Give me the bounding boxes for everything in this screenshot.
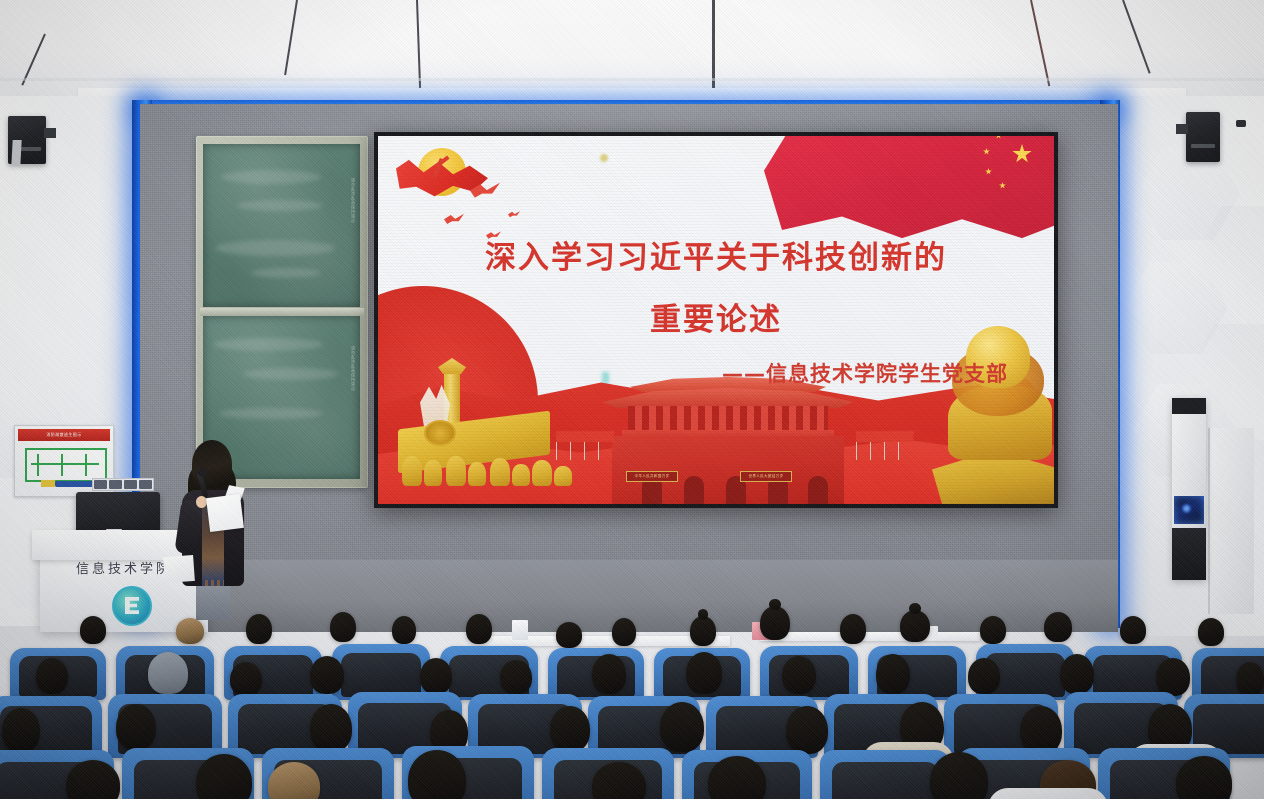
wall-speaker-right: [1186, 112, 1220, 162]
stone-lion-graphic: [930, 324, 1054, 504]
blackboard-note-top: 请勿乱涂乱画保持清洁: [350, 178, 356, 223]
gate-plaque-left: 中华人民共和国万岁: [626, 471, 678, 482]
ceiling-camera: [1236, 120, 1246, 127]
blackboard: 请勿乱涂乱画保持清洁 请勿乱涂乱画保持清洁: [196, 136, 368, 488]
tiananmen-gate-graphic: 中华人民共和国万岁 世界人民大团结万岁: [578, 376, 878, 504]
screen-speck: [600, 154, 608, 162]
desk-item: [512, 620, 528, 640]
slide-content: 中华人民共和国万岁 世界人民大团结万岁: [378, 136, 1054, 504]
ceiling: [0, 0, 1264, 96]
gate-plaque-right: 世界人民大团结万岁: [740, 471, 792, 482]
party-emblem-graphic: [396, 144, 488, 216]
lecture-hall-photo: 请勿乱涂乱画保持清洁 请勿乱涂乱画保持清洁: [0, 0, 1264, 799]
script-paper: [163, 555, 195, 583]
blackboard-rail: [200, 308, 364, 316]
microphone-head: [198, 468, 207, 477]
door-frame: [1208, 428, 1254, 614]
poster-header: 消防疏散逃生图示: [18, 429, 110, 441]
speaker-bracket: [1176, 124, 1188, 134]
audience-area: [0, 592, 1264, 799]
poster-floorplan: [25, 448, 107, 482]
wall-control-terminal[interactable]: [1172, 398, 1206, 580]
dove-icon: [508, 210, 520, 219]
script-paper: [206, 494, 244, 532]
led-presentation-screen[interactable]: 中华人民共和国万岁 世界人民大团结万岁: [374, 132, 1058, 508]
poster-legend-blue: [55, 481, 95, 487]
desk-row: [760, 632, 980, 641]
monument-relief-graphic: [394, 360, 594, 490]
slide-title-line1: 深入学习习近平关于科技创新的: [378, 232, 1054, 277]
poster-legend-yellow: [41, 480, 55, 487]
speaker-bracket: [44, 128, 56, 138]
wall-switch-panel[interactable]: [92, 478, 154, 491]
blackboard-panel-top: 请勿乱涂乱画保持清洁: [203, 144, 360, 307]
slide-title-line2: 重要论述: [378, 294, 1054, 339]
blackboard-note-bottom: 请勿乱涂乱画保持清洁: [350, 346, 356, 391]
slide-subtitle: ——信息技术学院学生党支部: [722, 358, 1008, 388]
terminal-slot: [11, 140, 21, 166]
